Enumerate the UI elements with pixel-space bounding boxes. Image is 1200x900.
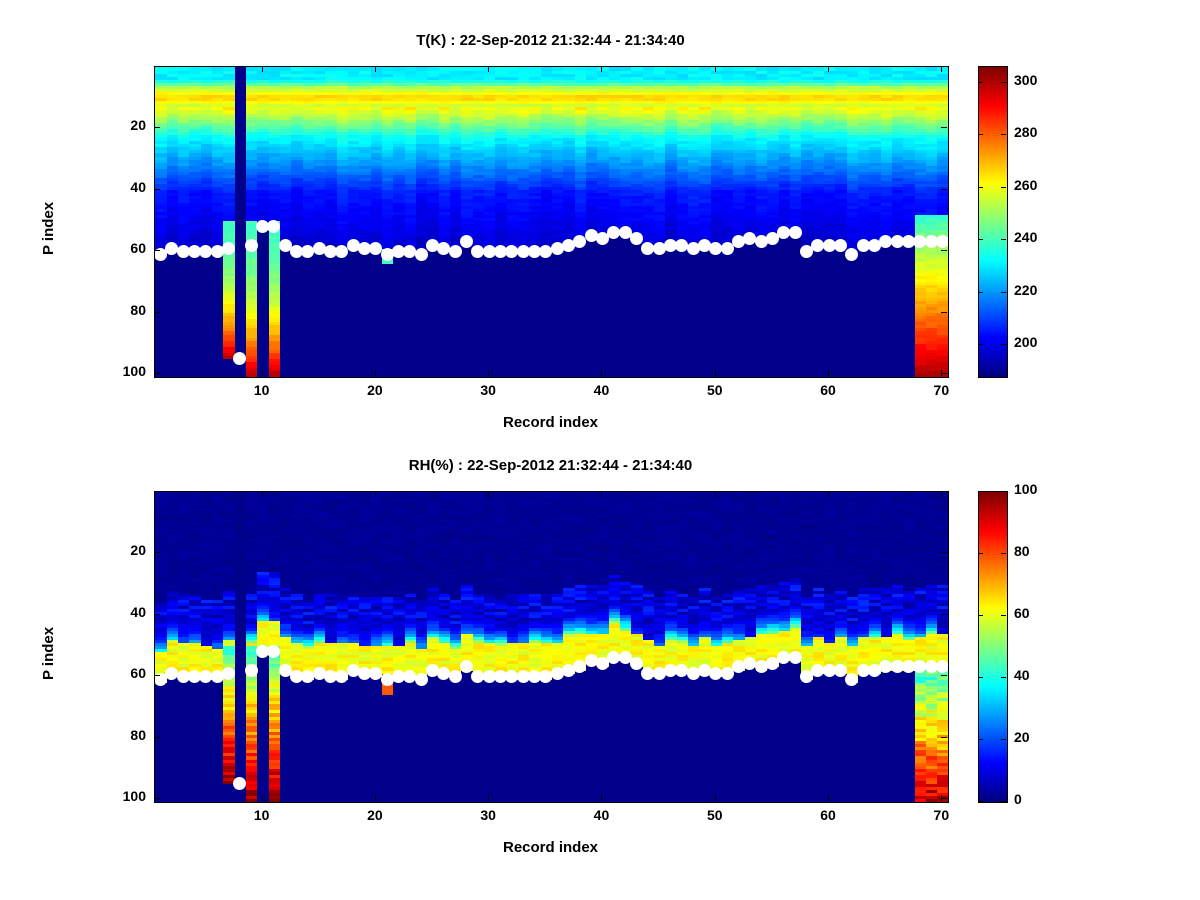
x-tick-mark (601, 370, 602, 376)
colorbar-tick-mark (978, 739, 983, 740)
surface-marker (233, 777, 246, 790)
colorbar-tick-mark (1001, 615, 1006, 616)
colorbar-tick-mark (1001, 134, 1006, 135)
colorbar-tick-label: 100 (1014, 481, 1037, 497)
colorbar-tick-label: 220 (1014, 282, 1037, 298)
surface-marker (245, 664, 258, 677)
temperature-x-axis-label: Record index (154, 414, 947, 431)
y-tick-mark (154, 312, 160, 313)
surface-marker (834, 239, 847, 252)
colorbar-tick-mark (1001, 239, 1006, 240)
humidity-panel: RH(%) : 22-Sep-2012 21:32:44 - 21:34:40 … (0, 450, 1200, 900)
colorbar-tick-label: 40 (1014, 667, 1030, 683)
matlab-figure-window: T(K) : 22-Sep-2012 21:32:44 - 21:34:40 1… (0, 0, 1200, 900)
colorbar-tick-label: 60 (1014, 605, 1030, 621)
surface-marker (936, 660, 949, 673)
surface-marker (789, 226, 802, 239)
x-tick-mark (262, 491, 263, 497)
y-tick-mark (154, 250, 160, 251)
colorbar-tick-label: 200 (1014, 334, 1037, 350)
surface-marker (630, 232, 643, 245)
humidity-marker-layer (155, 492, 948, 802)
colorbar-tick-mark (978, 292, 983, 293)
surface-marker (222, 242, 235, 255)
x-tick-label: 70 (911, 807, 971, 823)
humidity-colorbar[interactable] (978, 491, 1008, 803)
x-tick-mark (941, 491, 942, 497)
humidity-panel-title: RH(%) : 22-Sep-2012 21:32:44 - 21:34:40 (154, 457, 947, 474)
y-tick-label: 20 (96, 117, 146, 133)
surface-marker (449, 670, 462, 683)
colorbar-tick-mark (978, 82, 983, 83)
x-tick-mark (375, 370, 376, 376)
x-tick-label: 20 (345, 807, 405, 823)
colorbar-tick-mark (978, 344, 983, 345)
y-tick-label: 40 (96, 179, 146, 195)
x-tick-mark (375, 491, 376, 497)
humidity-colorbar-gradient (979, 492, 1007, 802)
surface-marker (630, 657, 643, 670)
colorbar-tick-mark (1001, 677, 1006, 678)
colorbar-tick-mark (1001, 739, 1006, 740)
x-tick-label: 50 (685, 382, 745, 398)
y-tick-mark (154, 737, 160, 738)
colorbar-tick-mark (978, 615, 983, 616)
y-tick-label: 80 (96, 727, 146, 743)
colorbar-tick-mark (978, 677, 983, 678)
x-tick-label: 30 (458, 382, 518, 398)
colorbar-tick-label: 0 (1014, 791, 1022, 807)
colorbar-tick-label: 20 (1014, 729, 1030, 745)
surface-marker (415, 673, 428, 686)
x-tick-mark (262, 795, 263, 801)
x-tick-mark (828, 370, 829, 376)
y-tick-mark (154, 373, 160, 374)
y-tick-mark (154, 189, 160, 190)
x-tick-mark (601, 66, 602, 72)
y-tick-label: 80 (96, 302, 146, 318)
x-tick-label: 60 (798, 382, 858, 398)
x-tick-mark (488, 795, 489, 801)
surface-marker (222, 667, 235, 680)
y-tick-label: 100 (96, 788, 146, 804)
colorbar-tick-mark (978, 553, 983, 554)
x-tick-mark (488, 66, 489, 72)
x-tick-label: 50 (685, 807, 745, 823)
colorbar-tick-mark (1001, 82, 1006, 83)
y-tick-mark (941, 798, 947, 799)
humidity-x-axis-label: Record index (154, 839, 947, 856)
x-tick-label: 10 (232, 807, 292, 823)
temperature-colorbar-gradient (979, 67, 1007, 377)
colorbar-tick-mark (978, 801, 983, 802)
colorbar-tick-label: 80 (1014, 543, 1030, 559)
colorbar-tick-mark (1001, 801, 1006, 802)
colorbar-tick-label: 280 (1014, 124, 1037, 140)
x-tick-mark (715, 795, 716, 801)
surface-marker (789, 651, 802, 664)
surface-marker (267, 645, 280, 658)
y-tick-mark (941, 675, 947, 676)
surface-marker (233, 352, 246, 365)
y-tick-mark (941, 127, 947, 128)
y-tick-mark (154, 552, 160, 553)
x-tick-label: 10 (232, 382, 292, 398)
colorbar-tick-label: 300 (1014, 72, 1037, 88)
y-tick-mark (154, 798, 160, 799)
humidity-heatmap-axes[interactable] (154, 491, 949, 803)
surface-marker (460, 660, 473, 673)
surface-marker (267, 220, 280, 233)
y-tick-label: 60 (96, 240, 146, 256)
colorbar-tick-mark (978, 491, 983, 492)
x-tick-label: 40 (571, 807, 631, 823)
y-tick-label: 40 (96, 604, 146, 620)
temperature-colorbar[interactable] (978, 66, 1008, 378)
temperature-panel-title: T(K) : 22-Sep-2012 21:32:44 - 21:34:40 (154, 32, 947, 49)
x-tick-mark (375, 66, 376, 72)
surface-marker (845, 248, 858, 261)
x-tick-mark (715, 66, 716, 72)
surface-marker (845, 673, 858, 686)
x-tick-mark (715, 491, 716, 497)
x-tick-mark (488, 491, 489, 497)
colorbar-tick-mark (1001, 187, 1006, 188)
y-tick-mark (941, 614, 947, 615)
colorbar-tick-label: 260 (1014, 177, 1037, 193)
x-tick-mark (828, 491, 829, 497)
temperature-marker-layer (155, 67, 948, 377)
surface-marker (936, 235, 949, 248)
surface-marker (415, 248, 428, 261)
x-tick-mark (601, 491, 602, 497)
surface-marker (449, 245, 462, 258)
colorbar-tick-mark (1001, 292, 1006, 293)
y-tick-mark (941, 312, 947, 313)
y-tick-mark (941, 737, 947, 738)
x-tick-mark (375, 795, 376, 801)
x-tick-mark (262, 66, 263, 72)
x-tick-label: 40 (571, 382, 631, 398)
x-tick-label: 30 (458, 807, 518, 823)
x-tick-label: 20 (345, 382, 405, 398)
y-tick-mark (154, 675, 160, 676)
x-tick-mark (601, 795, 602, 801)
x-tick-mark (828, 66, 829, 72)
x-tick-mark (715, 370, 716, 376)
y-tick-label: 20 (96, 542, 146, 558)
colorbar-tick-mark (978, 187, 983, 188)
colorbar-tick-label: 240 (1014, 229, 1037, 245)
y-tick-label: 100 (96, 363, 146, 379)
surface-marker (460, 235, 473, 248)
y-tick-mark (154, 614, 160, 615)
y-tick-mark (941, 189, 947, 190)
humidity-y-axis-label: P index (40, 627, 57, 680)
x-tick-mark (828, 795, 829, 801)
x-tick-label: 70 (911, 382, 971, 398)
surface-marker (245, 239, 258, 252)
colorbar-tick-mark (978, 239, 983, 240)
y-tick-mark (941, 250, 947, 251)
colorbar-tick-mark (1001, 344, 1006, 345)
x-tick-mark (262, 370, 263, 376)
x-tick-label: 60 (798, 807, 858, 823)
surface-marker (834, 664, 847, 677)
colorbar-tick-mark (1001, 553, 1006, 554)
x-tick-mark (941, 66, 942, 72)
y-tick-mark (941, 552, 947, 553)
temperature-y-axis-label: P index (40, 202, 57, 255)
colorbar-tick-mark (1001, 491, 1006, 492)
colorbar-tick-mark (978, 134, 983, 135)
y-tick-mark (941, 373, 947, 374)
y-tick-mark (154, 127, 160, 128)
x-tick-mark (488, 370, 489, 376)
temperature-heatmap-axes[interactable] (154, 66, 949, 378)
y-tick-label: 60 (96, 665, 146, 681)
temperature-panel: T(K) : 22-Sep-2012 21:32:44 - 21:34:40 1… (0, 0, 1200, 450)
